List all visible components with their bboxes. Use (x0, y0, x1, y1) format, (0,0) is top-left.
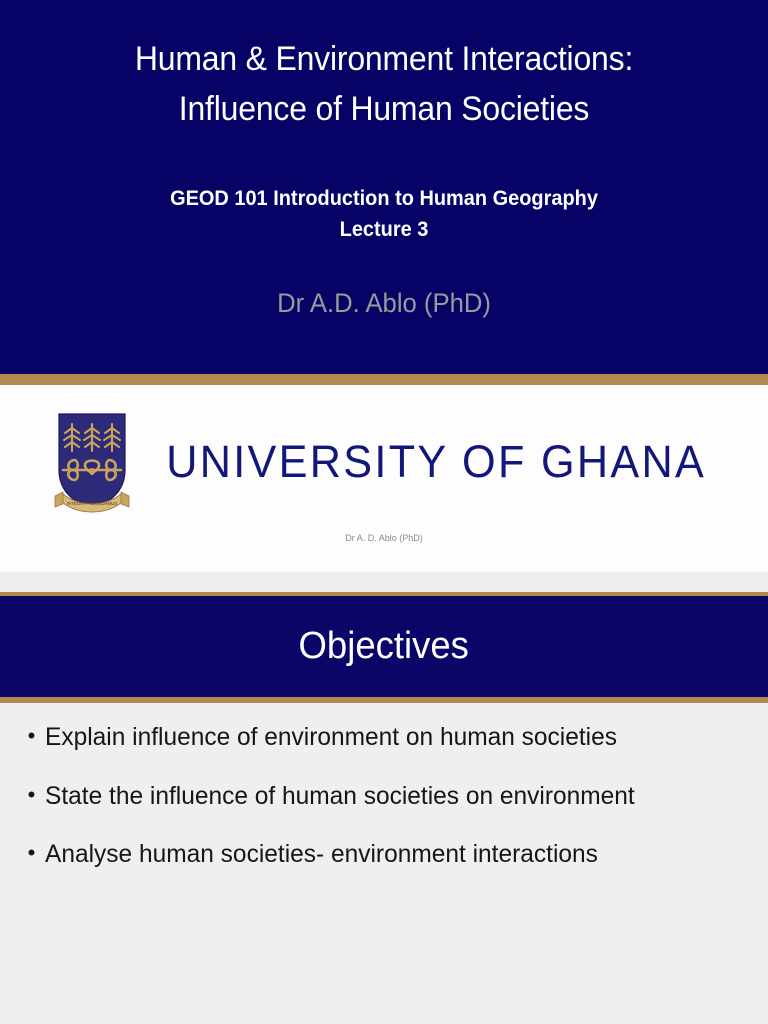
gold-divider-top (0, 374, 768, 385)
objectives-slide: Objectives • Explain influence of enviro… (0, 596, 768, 1024)
presenter-name: Dr A.D. Ablo (PhD) (19, 288, 749, 319)
list-item-label: Explain influence of environment on huma… (45, 717, 736, 759)
presentation-title-line-1: Human & Environment Interactions: (74, 34, 694, 84)
list-item: • Explain influence of environment on hu… (18, 717, 750, 759)
title-slide-text-stack: Human & Environment Interactions: Influe… (0, 0, 768, 319)
lecture-number-line: Lecture 3 (76, 214, 692, 246)
bullet-dot-icon: • (18, 834, 45, 871)
university-name: UNIVERSITY OF GHANA (166, 436, 706, 488)
course-code-line: GEOD 101 Introduction to Human Geography (76, 183, 692, 215)
bullet-dot-icon: • (18, 776, 45, 813)
logo-row: INTEGRI PROCEDAMUS UNIVERSITY OF GHANA (0, 408, 768, 516)
crest-motto-text: INTEGRI PROCEDAMUS (67, 501, 118, 506)
list-item: • State the influence of human societies… (18, 776, 750, 818)
title-slide: Human & Environment Interactions: Influe… (0, 0, 768, 374)
logo-slide: INTEGRI PROCEDAMUS UNIVERSITY OF GHANA D… (0, 385, 768, 572)
university-crest-icon: INTEGRI PROCEDAMUS (51, 408, 133, 516)
slide-deck-page: Human & Environment Interactions: Influe… (0, 0, 768, 1024)
presentation-title: Human & Environment Interactions: Influe… (74, 34, 694, 135)
list-item-label: Analyse human societies- environment int… (45, 834, 736, 876)
objectives-title: Objectives (299, 625, 469, 668)
slide-gap-strip (0, 572, 768, 592)
bullet-dot-icon: • (18, 717, 45, 754)
list-item: • Analyse human societies- environment i… (18, 834, 750, 876)
objectives-header-bar: Objectives (0, 596, 768, 697)
list-item-label: State the influence of human societies o… (45, 776, 736, 818)
objectives-bullet-list: • Explain influence of environment on hu… (0, 703, 768, 893)
logo-slide-footer-author: Dr A. D. Ablo (PhD) (0, 533, 768, 543)
course-subtitle: GEOD 101 Introduction to Human Geography… (76, 183, 692, 246)
presentation-title-line-2: Influence of Human Societies (74, 84, 694, 134)
